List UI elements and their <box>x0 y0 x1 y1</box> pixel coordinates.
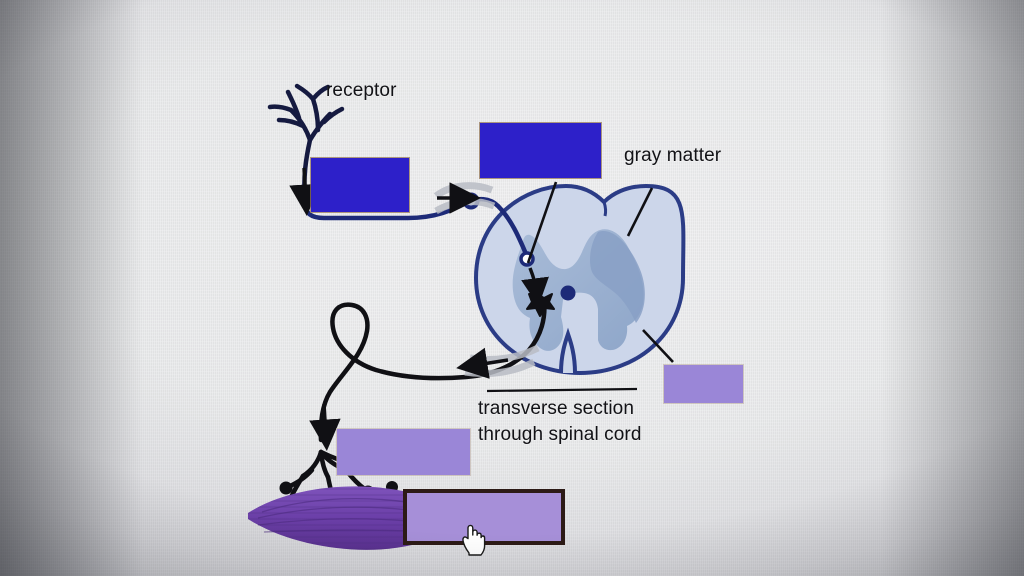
transverse-bracket-line <box>487 389 637 391</box>
label-gray-matter: gray matter <box>624 145 721 167</box>
stimulus-arrow <box>304 168 306 202</box>
blank-motor-neuron[interactable] <box>337 429 470 475</box>
hand-pointer-cursor <box>460 522 486 556</box>
label-receptor: receptor <box>326 80 397 102</box>
blank-dorsal-root[interactable] <box>480 123 601 178</box>
dorsal-root-sheath <box>436 186 492 196</box>
screenshot-photo: receptor gray matter transverse section … <box>0 0 1024 576</box>
label-transverse-section-line2: through spinal cord <box>478 424 642 446</box>
efferent-axon-arrow <box>324 404 326 437</box>
blank-white-matter[interactable] <box>664 365 743 403</box>
blank-sensory-neuron[interactable] <box>311 158 409 212</box>
central-canal <box>561 286 576 301</box>
label-transverse-section-line1: transverse section <box>478 398 634 420</box>
dorsal-sulcus <box>604 202 606 216</box>
